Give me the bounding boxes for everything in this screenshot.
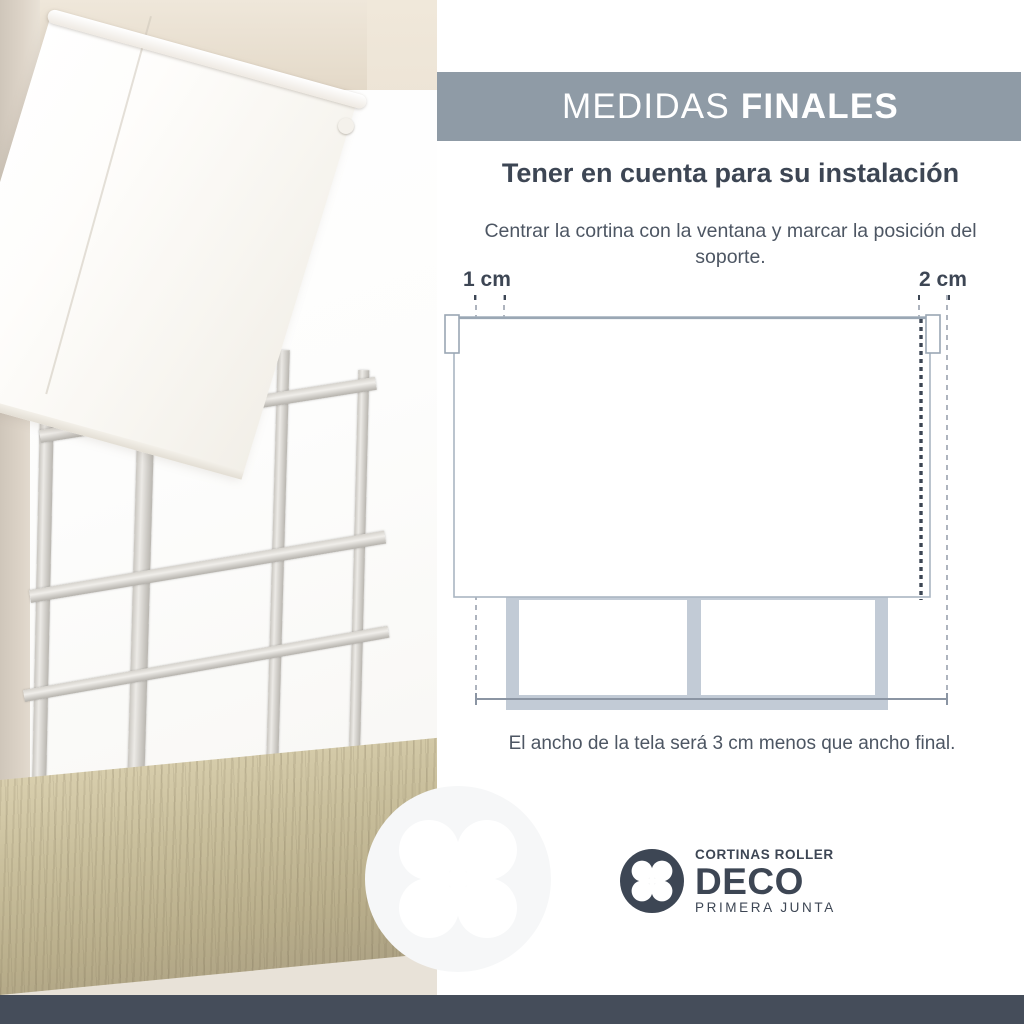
bracket-right bbox=[926, 315, 940, 353]
page-title: MEDIDAS FINALES bbox=[562, 87, 899, 127]
subtitle: Tener en cuenta para su instalación bbox=[437, 158, 1024, 189]
logo-wordmark: DECO bbox=[695, 863, 836, 900]
installation-photo bbox=[0, 0, 437, 995]
dimension-tick-right bbox=[919, 295, 949, 300]
page-title-bold: FINALES bbox=[741, 87, 899, 126]
page-title-light: MEDIDAS bbox=[562, 87, 741, 126]
dimension-label-right: 2 cm bbox=[919, 268, 967, 292]
brand-logo: CORTINAS ROLLER DECO PRIMERA JUNTA bbox=[620, 845, 845, 917]
roller-endcap bbox=[338, 118, 354, 134]
installation-diagram bbox=[437, 295, 1024, 725]
slide-root: MEDIDAS FINALES Tener en cuenta para su … bbox=[0, 0, 1024, 1024]
logo-tagline-top: CORTINAS ROLLER bbox=[695, 848, 836, 862]
lead-instruction-text: Centrar la cortina con la ventana y marc… bbox=[477, 218, 984, 270]
deco-flower-icon bbox=[620, 849, 684, 913]
content-panel: MEDIDAS FINALES Tener en cuenta para su … bbox=[437, 0, 1024, 995]
dimension-label-left: 1 cm bbox=[463, 268, 511, 292]
bracket-left bbox=[445, 315, 459, 353]
logo-text-block: CORTINAS ROLLER DECO PRIMERA JUNTA bbox=[695, 848, 836, 914]
fabric-width-note: El ancho de la tela será 3 cm menos que … bbox=[452, 733, 1012, 755]
window-frame bbox=[506, 585, 888, 710]
roller-blind-panel bbox=[454, 317, 930, 597]
wood-floor bbox=[0, 738, 437, 995]
header-bar: MEDIDAS FINALES bbox=[437, 72, 1024, 141]
footer-bar bbox=[0, 995, 1024, 1024]
dimension-tick-left bbox=[475, 295, 505, 300]
logo-tagline-bottom: PRIMERA JUNTA bbox=[695, 901, 836, 915]
